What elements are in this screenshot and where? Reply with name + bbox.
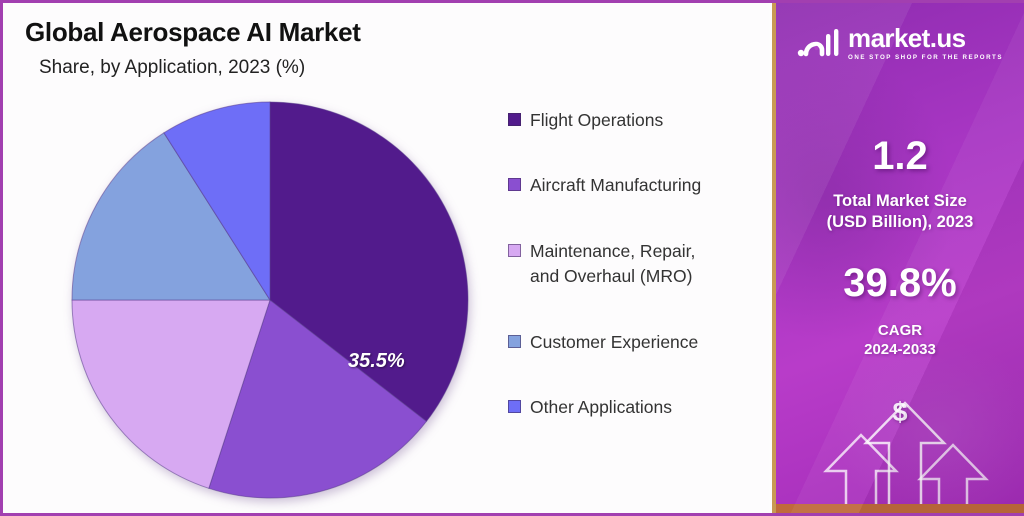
market-size-caption: Total Market Size (USD Billion), 2023 xyxy=(776,191,1024,233)
pie-chart-svg xyxy=(70,100,470,500)
title-block: Global Aerospace AI Market Share, by App… xyxy=(25,17,361,79)
legend-item-customer-experience[interactable]: Customer Experience xyxy=(508,330,758,355)
market-size-value: 1.2 xyxy=(776,134,1024,179)
cagr-value: 39.8% xyxy=(776,261,1024,306)
growth-arrows-icon xyxy=(776,393,1024,513)
brand-panel: market.us ONE STOP SHOP FOR THE REPORTS … xyxy=(772,3,1024,513)
legend-item-aircraft-manufacturing[interactable]: Aircraft Manufacturing xyxy=(508,173,758,198)
legend-swatch-icon xyxy=(508,244,521,257)
legend-item-label: Maintenance, Repair, and Overhaul (MRO) xyxy=(530,239,695,290)
market-us-logo-icon xyxy=(797,28,841,58)
legend-swatch-icon xyxy=(508,113,521,126)
logo-text-block: market.us ONE STOP SHOP FOR THE REPORTS xyxy=(848,25,1003,61)
page-title: Global Aerospace AI Market xyxy=(25,17,361,48)
chart-panel: Global Aerospace AI Market Share, by App… xyxy=(3,3,769,513)
legend-item-label: Other Applications xyxy=(530,395,672,420)
legend-item-other-applications[interactable]: Other Applications xyxy=(508,395,758,420)
cagr-caption: CAGR 2024-2033 xyxy=(776,321,1024,359)
logo-tagline: ONE STOP SHOP FOR THE REPORTS xyxy=(848,54,1003,61)
legend-item-mro[interactable]: Maintenance, Repair, and Overhaul (MRO) xyxy=(508,239,758,290)
bottom-accent-bar xyxy=(776,504,1024,513)
legend-item-flight-operations[interactable]: Flight Operations xyxy=(508,108,758,133)
pie-chart: 35.5% xyxy=(70,100,470,500)
infographic-frame: Global Aerospace AI Market Share, by App… xyxy=(0,0,1024,516)
legend-swatch-icon xyxy=(508,178,521,191)
legend-item-label: Aircraft Manufacturing xyxy=(530,173,701,198)
chart-subtitle: Share, by Application, 2023 (%) xyxy=(39,57,361,79)
legend-swatch-icon xyxy=(508,400,521,413)
legend-swatch-icon xyxy=(508,335,521,348)
legend-item-label: Customer Experience xyxy=(530,330,698,355)
logo-wordmark: market.us xyxy=(848,25,1003,51)
chart-legend: Flight Operations Aircraft Manufacturing… xyxy=(508,108,758,460)
legend-item-label: Flight Operations xyxy=(530,108,663,133)
pie-slice-group xyxy=(72,102,468,498)
market-us-logo[interactable]: market.us ONE STOP SHOP FOR THE REPORTS xyxy=(776,25,1024,61)
